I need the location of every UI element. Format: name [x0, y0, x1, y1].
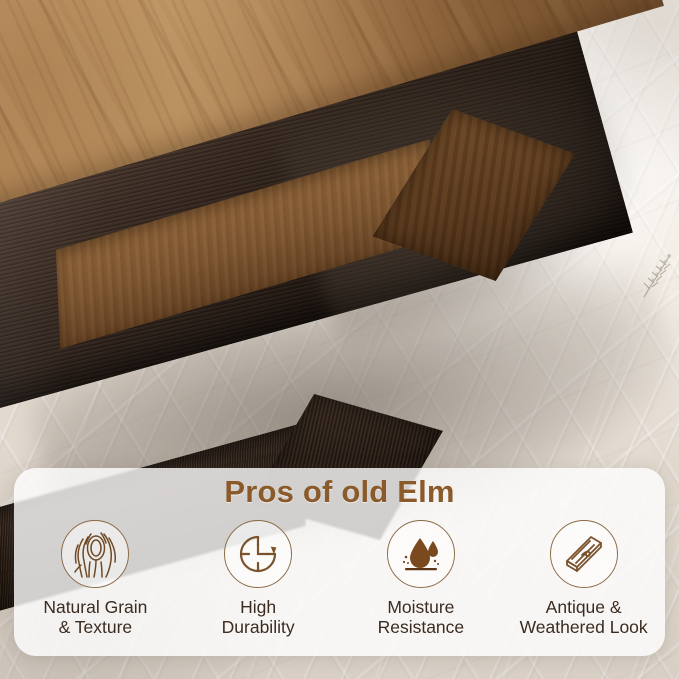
water-droplet-icon [387, 520, 455, 588]
walnut-board-front-edge [56, 139, 434, 349]
feature-label: Natural Grain & Texture [43, 597, 147, 637]
wood-plank-icon [550, 520, 618, 588]
feature-label: Antique & Weathered Look [520, 597, 648, 637]
feature-high-durability: High Durability [177, 520, 340, 637]
walnut-board [0, 0, 650, 334]
feature-antique-look: Antique & Weathered Look [502, 520, 665, 637]
feature-label: High Durability [222, 597, 295, 637]
product-infographic: Pros of old Elm [0, 0, 679, 679]
feature-list: Natural Grain & Texture High Durability [14, 520, 665, 637]
wood-grain-icon [61, 520, 129, 588]
feature-natural-grain: Natural Grain & Texture [14, 520, 177, 637]
panel-title: Pros of old Elm [14, 474, 665, 510]
walnut-board-end-grain [373, 109, 575, 281]
feature-label: Moisture Resistance [378, 597, 465, 637]
clock-refresh-icon [224, 520, 292, 588]
feature-moisture-resistance: Moisture Resistance [340, 520, 503, 637]
benefits-panel: Pros of old Elm [14, 468, 665, 656]
